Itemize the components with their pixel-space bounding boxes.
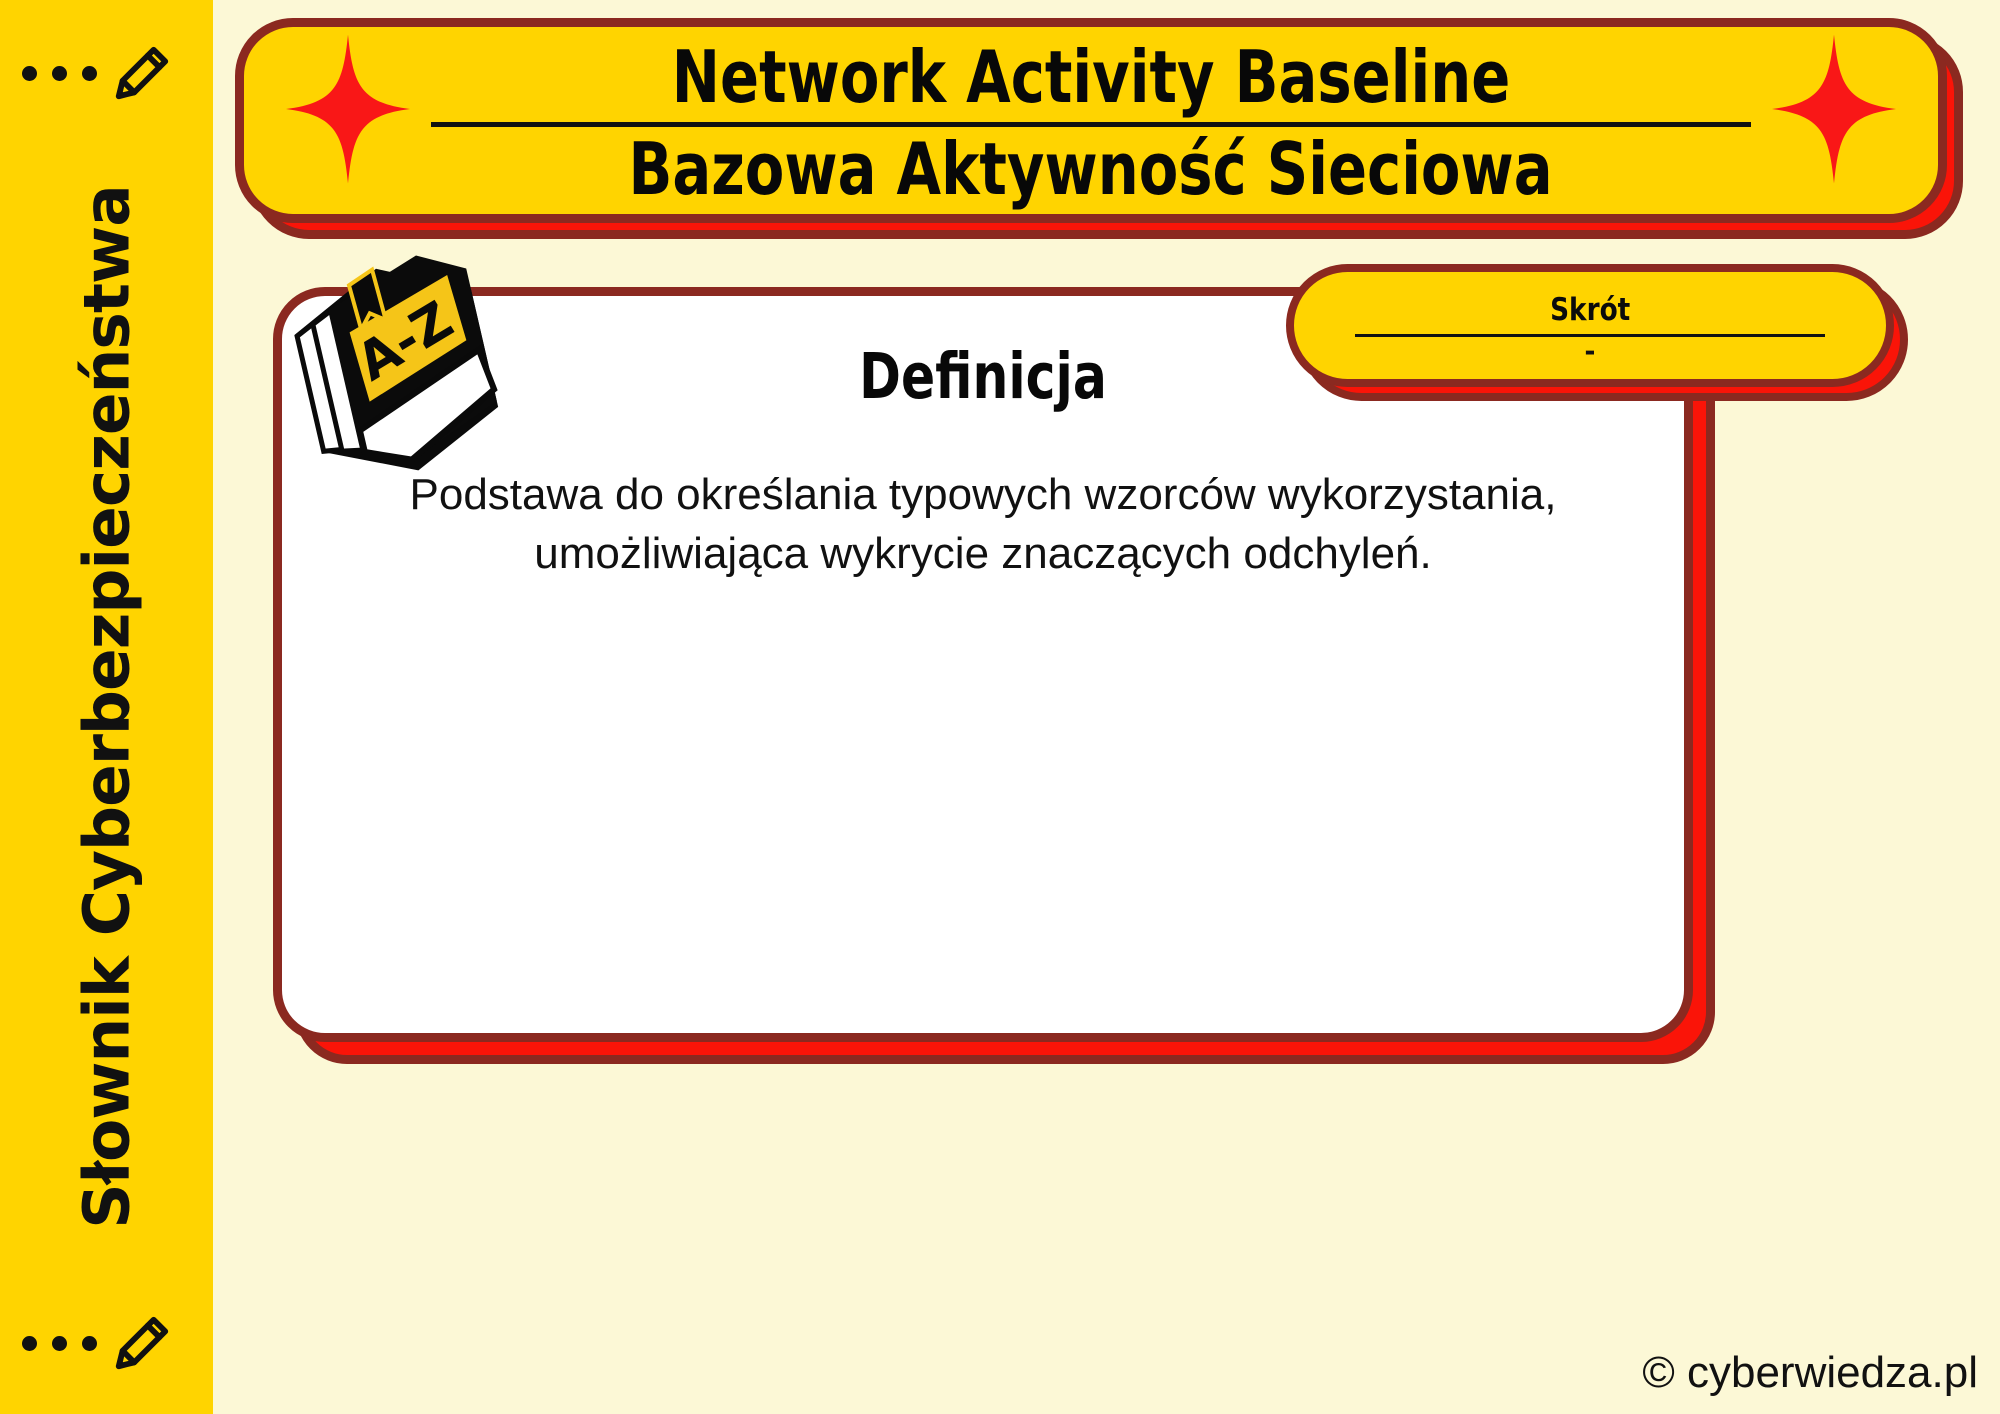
- dot-icon: [52, 1336, 67, 1351]
- abbreviation-badge-face: Skrót -: [1286, 264, 1894, 387]
- abbreviation-label: Skrót: [1550, 292, 1630, 328]
- dot-icon: [82, 1336, 97, 1351]
- pencil-icon: [111, 1312, 173, 1374]
- definition-body-text: Podstawa do określania typowych wzorców …: [338, 465, 1628, 584]
- sidebar-bottom-decoration: [22, 1298, 192, 1388]
- ellipsis-dots-bottom: [22, 1336, 97, 1351]
- dot-icon: [52, 66, 67, 81]
- page-title-pl: Bazowa Aktywność Sieciowa: [629, 133, 1553, 206]
- abbreviation-value: -: [1585, 341, 1596, 360]
- dot-icon: [82, 66, 97, 81]
- dot-icon: [22, 66, 37, 81]
- header-card: Network Activity Baseline Bazowa Aktywno…: [235, 18, 1947, 223]
- sidebar: Słownik Cyberbezpieczeństwa: [0, 0, 213, 1414]
- header-text-block: Network Activity Baseline Bazowa Aktywno…: [244, 27, 1938, 214]
- copyright-credit: © cyberwiedza.pl: [1642, 1348, 1978, 1398]
- ellipsis-dots-top: [22, 66, 97, 81]
- sidebar-top-decoration: [22, 28, 192, 118]
- page-title-en: Network Activity Baseline: [672, 41, 1510, 114]
- pencil-icon: [111, 42, 173, 104]
- abbreviation-badge: Skrót -: [1286, 264, 1894, 387]
- header-card-face: Network Activity Baseline Bazowa Aktywno…: [235, 18, 1947, 223]
- sparkle-star-icon: [1772, 34, 1896, 184]
- dot-icon: [22, 1336, 37, 1351]
- sidebar-title: Słownik Cyberbezpieczeństwa: [70, 185, 143, 1229]
- content-stage: Network Activity Baseline Bazowa Aktywno…: [213, 0, 2000, 1414]
